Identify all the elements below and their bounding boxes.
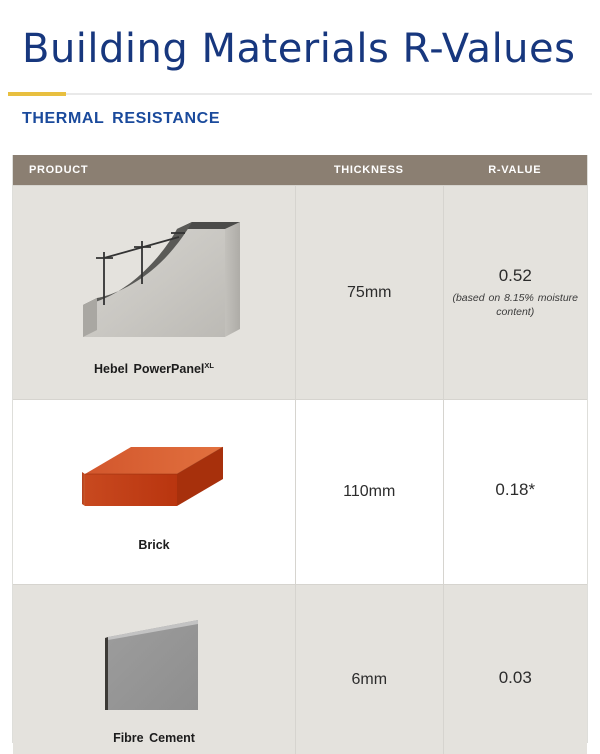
section-subtitle: THERMAL RESISTANCE: [22, 110, 220, 128]
brick-illustration: [79, 431, 229, 531]
product-name: Hebel PowerPanel: [94, 362, 204, 376]
divider-accent-bar: [8, 92, 66, 96]
column-header-product: PRODUCT: [13, 155, 295, 185]
thickness-value: 6mm: [351, 671, 387, 689]
rvalue-cell: 0.18*: [443, 400, 588, 584]
building-materials-r-values-page: Building Materials R-Values THERMAL RESI…: [0, 0, 600, 754]
thickness-cell: 6mm: [295, 585, 442, 754]
thickness-value: 75mm: [347, 284, 391, 302]
product-cell: Hebel PowerPanelXL: [13, 186, 295, 399]
product-name: Brick: [138, 539, 169, 553]
product-label: Fibre Cement: [113, 730, 195, 745]
product-cell: Fibre Cement: [13, 585, 295, 754]
column-header-rvalue: R-VALUE: [443, 155, 587, 185]
product-label: Hebel PowerPanelXL: [94, 361, 214, 376]
product-cell: Brick: [13, 400, 295, 584]
product-label: Brick: [138, 537, 169, 552]
page-title: Building Materials R-Values: [22, 26, 575, 72]
rvalue-value: 0.52: [499, 266, 532, 286]
table-row: Fibre Cement 6mm 0.03: [13, 584, 587, 754]
table-row: Brick 110mm 0.18*: [13, 399, 587, 584]
rvalue-value: 0.03: [499, 668, 532, 688]
rvalue-value: 0.18*: [495, 480, 535, 500]
thickness-cell: 110mm: [295, 400, 442, 584]
product-superscript: XL: [204, 361, 214, 370]
divider-base-line: [8, 93, 592, 95]
r-values-table: PRODUCT THICKNESS R-VALUE: [12, 155, 588, 743]
column-header-thickness: THICKNESS: [295, 155, 442, 185]
rvalue-cell: 0.52 (based on 8.15% moisture content): [443, 186, 588, 399]
rvalue-note: (based on 8.15% moisture content): [450, 291, 580, 319]
hebel-powerpanel-illustration: [59, 209, 249, 355]
product-name: Fibre Cement: [113, 732, 195, 746]
thickness-value: 110mm: [343, 483, 395, 501]
fibre-cement-sheet-illustration: [94, 614, 214, 724]
title-divider: [8, 92, 592, 96]
table-header-row: PRODUCT THICKNESS R-VALUE: [13, 155, 587, 185]
table-row: Hebel PowerPanelXL 75mm 0.52 (based on 8…: [13, 185, 587, 399]
rvalue-cell: 0.03: [443, 585, 588, 754]
thickness-cell: 75mm: [295, 186, 442, 399]
